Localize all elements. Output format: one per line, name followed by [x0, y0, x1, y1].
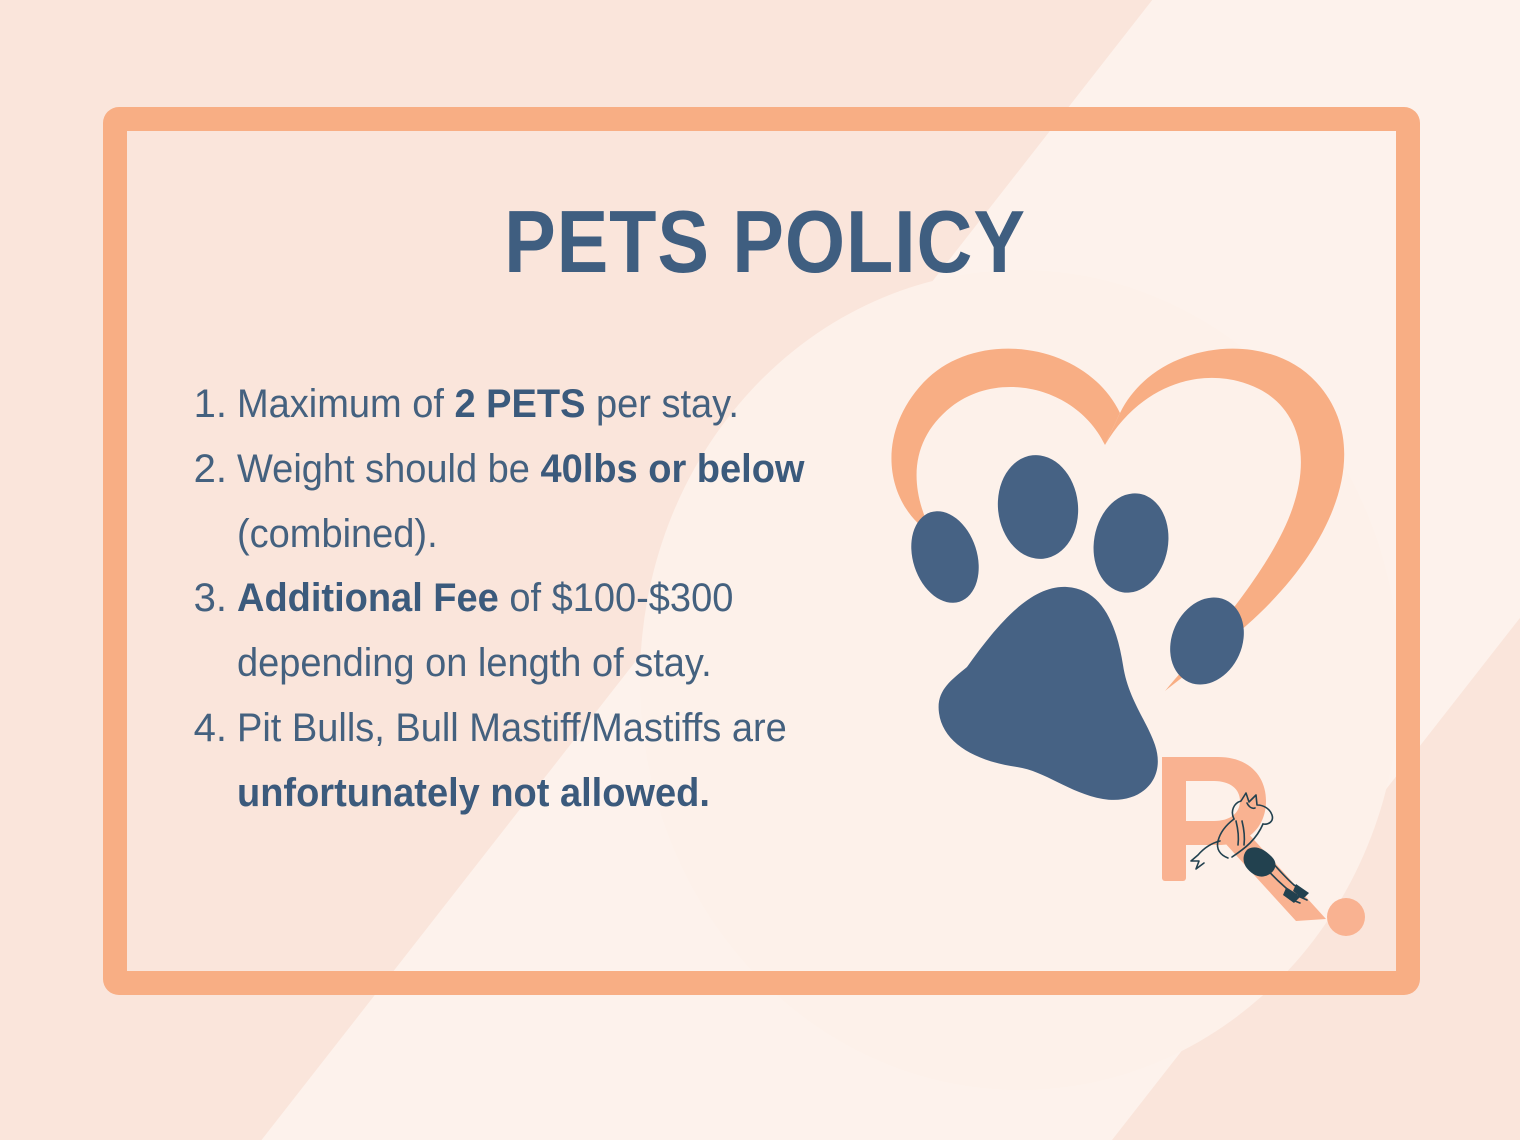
- list-item: 3. Additional Fee of $100-$300 depending…: [175, 566, 915, 696]
- policy-4-part-1: Pit Bulls, Bull Mastiff/Mastiffs are: [237, 706, 787, 750]
- policy-2-part-3: (combined).: [237, 512, 438, 556]
- list-item-text: Additional Fee of $100-$300 depending on…: [237, 566, 881, 696]
- policy-1-part-3: per stay.: [585, 382, 738, 426]
- policy-2-part-2-bold: 40lbs or below: [541, 447, 805, 491]
- page-title: PETS POLICY: [206, 196, 1324, 288]
- list-item: 1. Maximum of 2 PETS per stay.: [175, 372, 915, 437]
- policy-3-part-1-bold: Additional Fee: [237, 576, 499, 620]
- list-item-number: 1.: [175, 372, 237, 437]
- policy-list: 1. Maximum of 2 PETS per stay. 2. Weight…: [175, 372, 915, 826]
- list-item-text: Weight should be 40lbs or below (combine…: [237, 437, 881, 567]
- list-item-text: Pit Bulls, Bull Mastiff/Mastiffs are unf…: [237, 696, 881, 826]
- list-item: 2. Weight should be 40lbs or below (comb…: [175, 437, 915, 567]
- paw-heart-illustration: [855, 335, 1355, 805]
- dog-band-icon: [1244, 847, 1276, 876]
- pets-policy-poster: PETS POLICY 1. Maximum of 2 PETS per sta…: [0, 0, 1520, 1140]
- list-item-text: Maximum of 2 PETS per stay.: [237, 372, 881, 437]
- list-item: 4. Pit Bulls, Bull Mastiff/Mastiffs are …: [175, 696, 915, 826]
- policy-1-part-2-bold: 2 PETS: [454, 382, 585, 426]
- list-item-number: 2.: [175, 437, 237, 502]
- brand-logo: [1150, 745, 1390, 945]
- list-item-number: 3.: [175, 566, 237, 631]
- policy-4-part-2-bold: unfortunately not allowed.: [237, 771, 710, 815]
- list-item-number: 4.: [175, 696, 237, 761]
- policy-2-part-1: Weight should be: [237, 447, 541, 491]
- policy-1-part-1: Maximum of: [237, 382, 454, 426]
- logo-dot-icon: [1327, 898, 1365, 936]
